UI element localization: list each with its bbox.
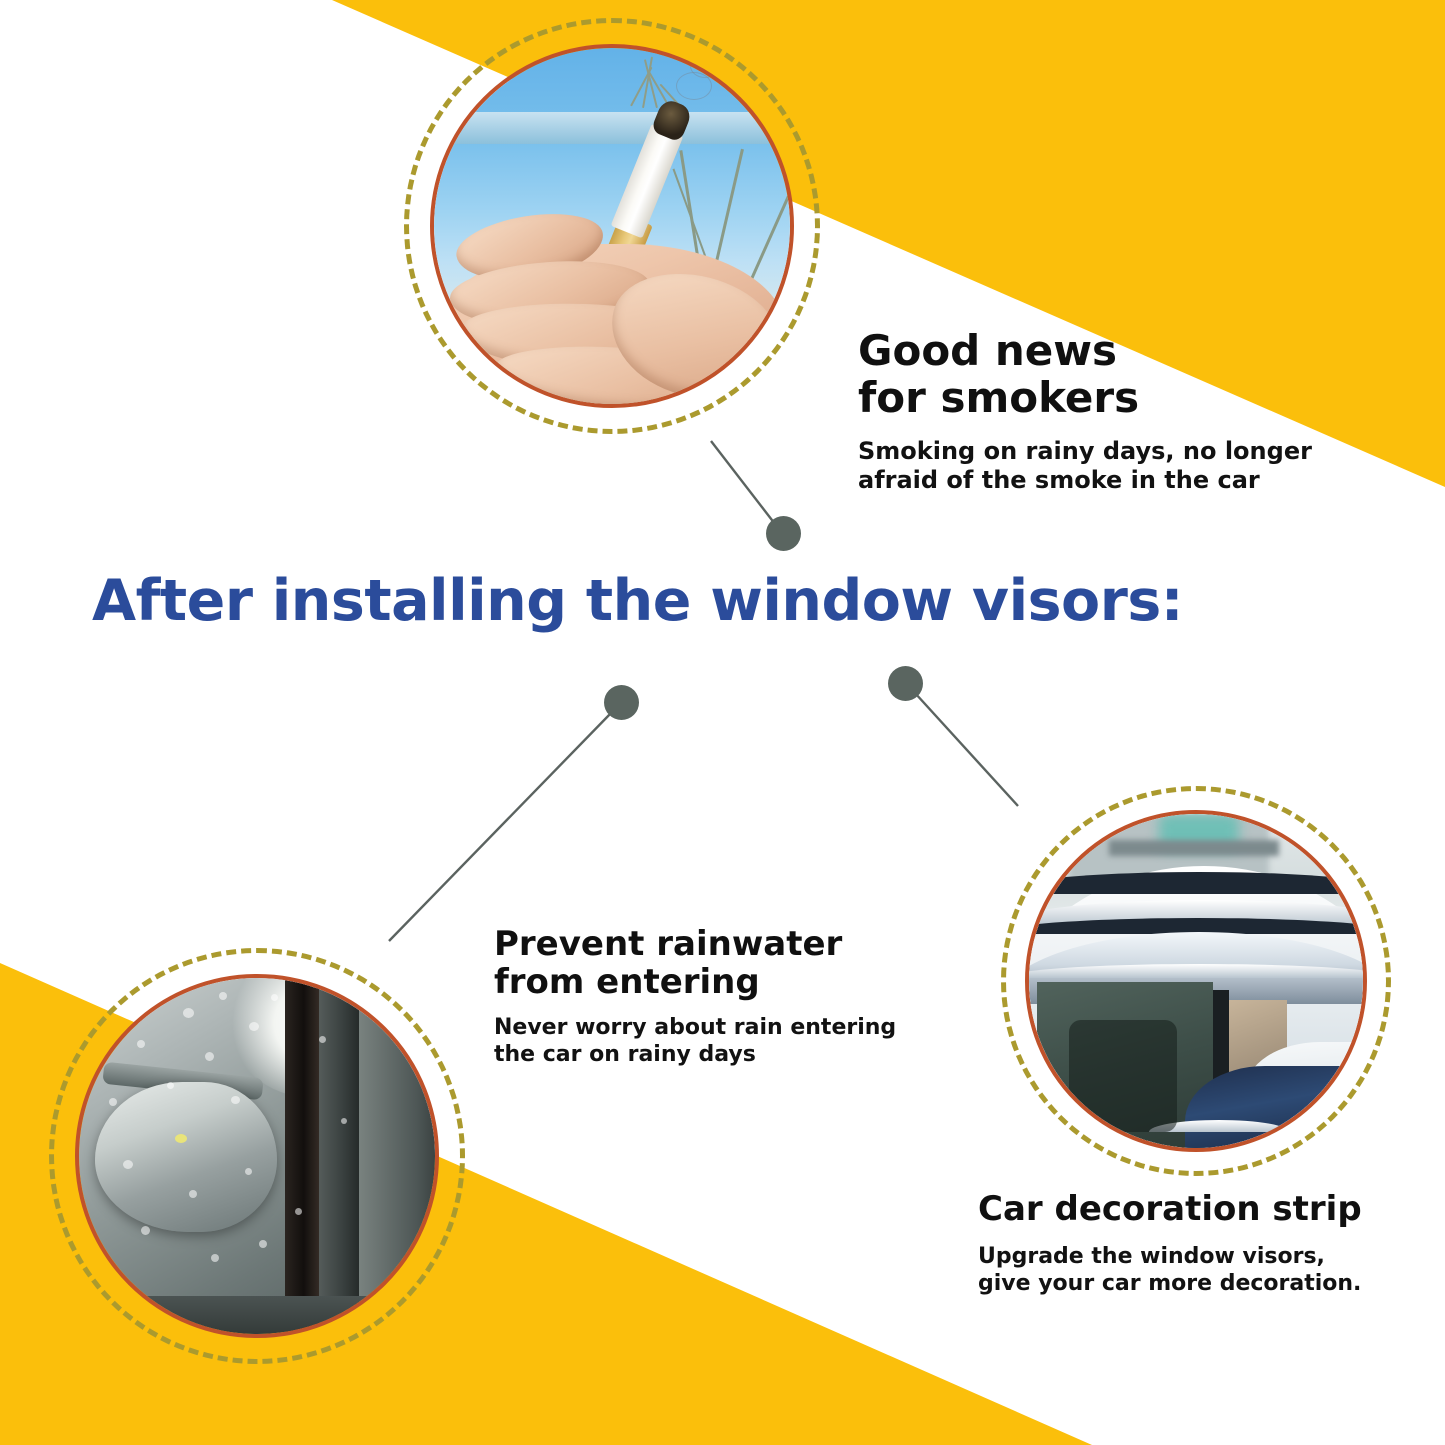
page-title: After installing the window visors: bbox=[92, 568, 1183, 634]
poster-canvas: After installing the window visors: Good… bbox=[0, 0, 1445, 1445]
visor-chrome-trim bbox=[1029, 964, 1363, 978]
feature-desc-decoration-line1: Upgrade the window visors, bbox=[978, 1244, 1408, 1271]
seat-shadow bbox=[1069, 1020, 1177, 1132]
connector-line-decoration bbox=[915, 693, 1018, 806]
feature-desc-rainwater-line1: Never worry about rain entering bbox=[494, 1015, 914, 1042]
feature-title-decoration-line1: Car decoration strip bbox=[978, 1190, 1408, 1228]
feature-text-decoration: Car decoration strip Upgrade the window … bbox=[978, 1190, 1408, 1298]
feature-desc-decoration-line2: give your car more decoration. bbox=[978, 1271, 1408, 1298]
feature-desc-smokers-line1: Smoking on rainy days, no longer bbox=[858, 437, 1328, 466]
smoke-wisp-icon bbox=[690, 54, 720, 78]
feature-title-smokers-line1: Good news bbox=[858, 327, 1328, 374]
photo-decoration bbox=[1025, 810, 1367, 1152]
feature-text-smokers: Good news for smokers Smoking on rainy d… bbox=[858, 327, 1328, 496]
horizon-band bbox=[434, 112, 790, 144]
photo-smokers bbox=[430, 44, 794, 408]
feature-desc-rainwater-line2: the car on rainy days bbox=[494, 1042, 914, 1069]
car-roof-line bbox=[1029, 872, 1363, 894]
feature-title-rainwater-line1: Prevent rainwater bbox=[494, 925, 914, 963]
feature-title-smokers-line2: for smokers bbox=[858, 374, 1328, 421]
connector-dot-rainwater[interactable] bbox=[604, 685, 639, 720]
background-beam bbox=[1109, 840, 1279, 856]
feature-desc-smokers-line2: afraid of the smoke in the car bbox=[858, 466, 1328, 495]
connector-dot-decoration[interactable] bbox=[888, 666, 923, 701]
connector-line-smokers bbox=[711, 441, 775, 524]
feature-title-rainwater-line2: from entering bbox=[494, 963, 914, 1001]
photo-rainwater bbox=[75, 974, 439, 1338]
rain-droplets bbox=[79, 978, 435, 1334]
feature-text-rainwater: Prevent rainwater from entering Never wo… bbox=[494, 925, 914, 1069]
connector-dot-smokers[interactable] bbox=[766, 516, 801, 551]
lower-body-shadow bbox=[79, 1296, 435, 1334]
connector-line-rainwater bbox=[389, 712, 612, 941]
